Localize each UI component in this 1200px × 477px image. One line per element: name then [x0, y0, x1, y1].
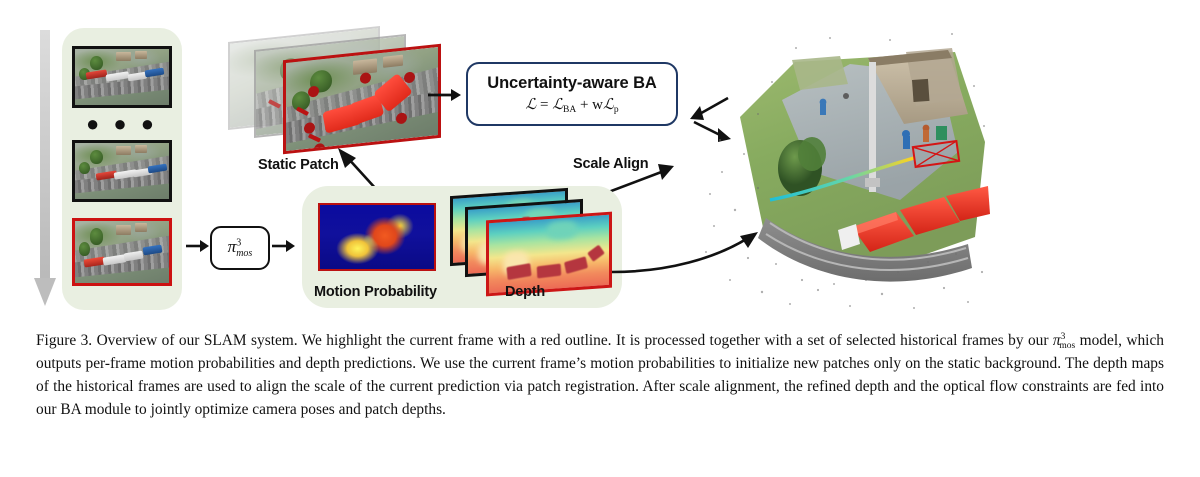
- static-patch-frame-stack[interactable]: [228, 28, 443, 158]
- historical-frame-earliest[interactable]: [72, 46, 172, 108]
- arrow-frames-to-model-icon: [186, 236, 210, 256]
- patch-frame-current: [283, 44, 441, 155]
- motion-probability-label: Motion Probability: [314, 284, 437, 300]
- depth-map-stack[interactable]: [450, 192, 618, 296]
- timeline-arrow-icon: [32, 30, 58, 310]
- ba-loss-formula: ℒ = ℒBA + wℒp: [525, 95, 618, 115]
- frame-scene: [75, 49, 169, 105]
- ba-box-title: Uncertainty-aware BA: [487, 74, 656, 93]
- static-patch-label: Static Patch: [258, 157, 339, 173]
- pi3-model-label: π3mos: [228, 237, 253, 259]
- caption-text-before: Figure 3. Overview of our SLAM system. W…: [36, 332, 1053, 349]
- current-frame[interactable]: [72, 218, 172, 286]
- frame-scene: [75, 143, 169, 199]
- patch-marker: [314, 143, 325, 154]
- caption-pi-symbol: π3mos: [1053, 332, 1075, 349]
- figure-caption: Figure 3. Overview of our SLAM system. W…: [36, 330, 1164, 422]
- uncertainty-aware-ba-box[interactable]: Uncertainty-aware BA ℒ = ℒBA + wℒp: [466, 62, 678, 126]
- arrow-model-to-outputs-icon: [272, 236, 296, 256]
- historical-frame-middle[interactable]: [72, 140, 172, 202]
- 3d-reconstruction-view[interactable]: [700, 22, 990, 318]
- frames-ellipsis: ● ● ●: [72, 113, 172, 135]
- pi3-model-box[interactable]: π3mos: [210, 226, 270, 270]
- frame-scene: [75, 221, 169, 283]
- figure-overview: ● ● ● π3mos: [0, 0, 1200, 477]
- motion-probability-map[interactable]: [318, 203, 436, 271]
- arrow-patches-to-ba-icon: [428, 86, 462, 104]
- depth-label: Depth: [505, 284, 545, 300]
